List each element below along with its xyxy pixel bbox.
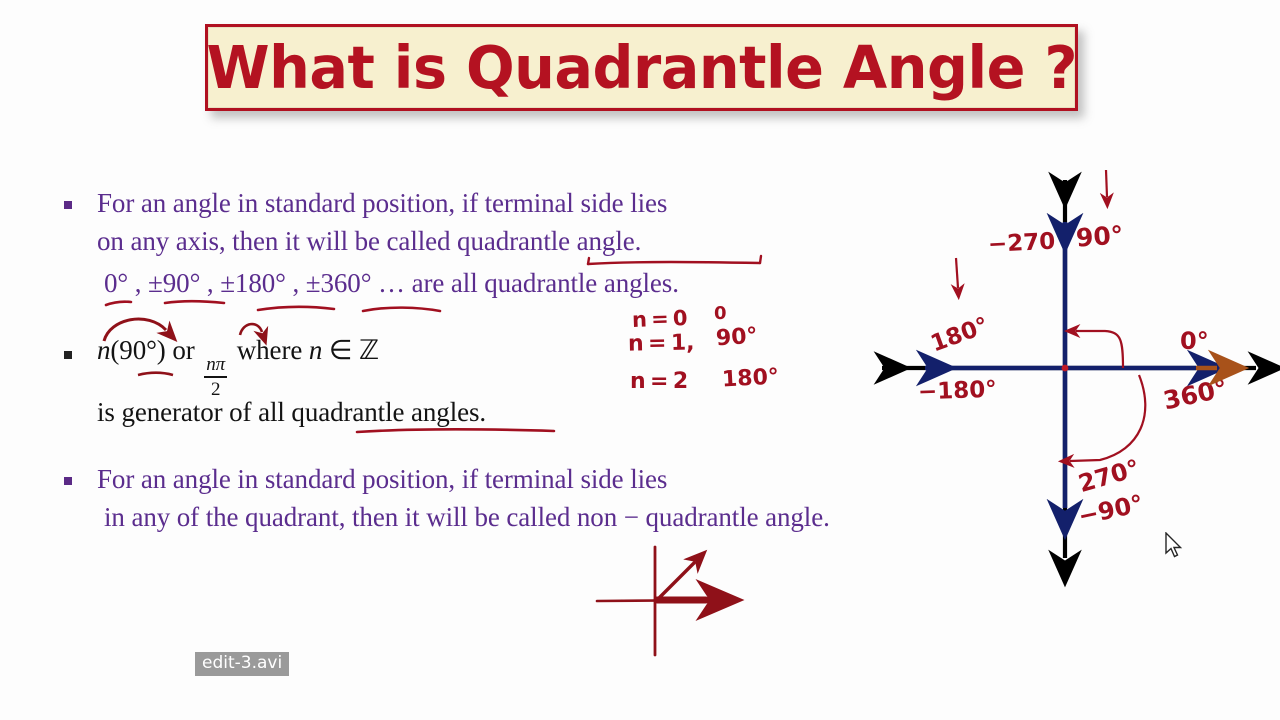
ink-underline-90deg [165, 301, 224, 303]
mini-axis-horizontal [597, 600, 727, 601]
ink-underline-360deg [363, 308, 440, 311]
formula-fraction: nπ2 [204, 355, 227, 399]
square-bullet-icon [64, 477, 72, 485]
bullet-3-line-1: For an angle in standard position, if te… [97, 464, 667, 495]
axis-label-360: 360° [1161, 374, 1230, 416]
slide-title-box: What is Quadrantle Angle ? [205, 24, 1078, 111]
formula-n: n [97, 335, 110, 365]
bullet-1-line-2: on any axis, then it will be called quad… [97, 226, 641, 257]
handwriting-n0-right: 0 [714, 303, 727, 324]
mouse-cursor [1164, 532, 1186, 562]
bullet-2-formula: n(90°) or nπ2 where n ∈ ℤ [97, 335, 379, 399]
handwriting-n0-left: n = 0 [632, 306, 688, 332]
mini-terminal-ray [656, 563, 694, 601]
bullet-3-line-2: in any of the quadrant, then it will be … [104, 502, 830, 533]
fraction-numerator: nπ [204, 355, 227, 374]
ink-arrow-down-left [956, 258, 958, 288]
ink-curve-over-npi [240, 324, 262, 335]
formula-or: or [166, 335, 202, 365]
slide-title-inner-border: What is Quadrantle Angle ? [208, 27, 1075, 108]
ink-underlines-angles [106, 301, 440, 311]
handwriting-n1-right: 90° [715, 324, 758, 352]
square-bullet-icon [64, 351, 72, 359]
ink-underline-generator [357, 429, 554, 432]
ink-underlines-line2 [588, 256, 761, 264]
formula-where: where [230, 335, 309, 365]
handwriting-n1-left: n = 1, [628, 330, 695, 356]
axis-label-minus-270: −270° [987, 228, 1067, 258]
formula-paren: (90°) [110, 335, 165, 365]
axis-label-270: 270° [1075, 454, 1142, 498]
square-bullet-icon [64, 201, 72, 209]
bullet-1-line-1: For an angle in standard position, if te… [97, 188, 667, 219]
mini-axis-diagram [597, 547, 727, 655]
axis-label-180: 180° [927, 313, 992, 358]
axis-black-lines [882, 180, 1256, 558]
axis-label-0: 0° [1180, 327, 1209, 355]
bullet-2-line-2: is generator of all quadrantle angles. [97, 397, 486, 428]
axis-navy-lines [925, 222, 1196, 508]
ink-underline-0deg [106, 302, 131, 305]
ink-underline-180deg [258, 307, 334, 310]
formula-in-z: ∈ ℤ [322, 335, 379, 365]
axis-origin-dot [1062, 365, 1069, 372]
formula-var: n [309, 335, 322, 365]
ink-curve-up-left [1076, 331, 1123, 368]
fraction-bar [204, 376, 227, 378]
bullet-1-line-3: 0° , ±90° , ±180° , ±360° … are all quad… [104, 268, 679, 299]
file-name-badge: edit-3.avi [195, 652, 289, 676]
handwriting-n2-right: 180° [721, 365, 779, 393]
ink-curve-down-left [1070, 375, 1145, 461]
axis-label-90: 90° [1075, 220, 1124, 252]
fraction-denominator: 2 [209, 380, 222, 399]
axis-label-minus-90: −90° [1076, 489, 1146, 530]
handwriting-n2-left: n = 2 [630, 369, 688, 394]
page-title: What is Quadrantle Angle ? [206, 33, 1077, 102]
ink-arrow-down-top [1106, 170, 1107, 197]
axis-label-minus-180: −180° [918, 377, 998, 406]
